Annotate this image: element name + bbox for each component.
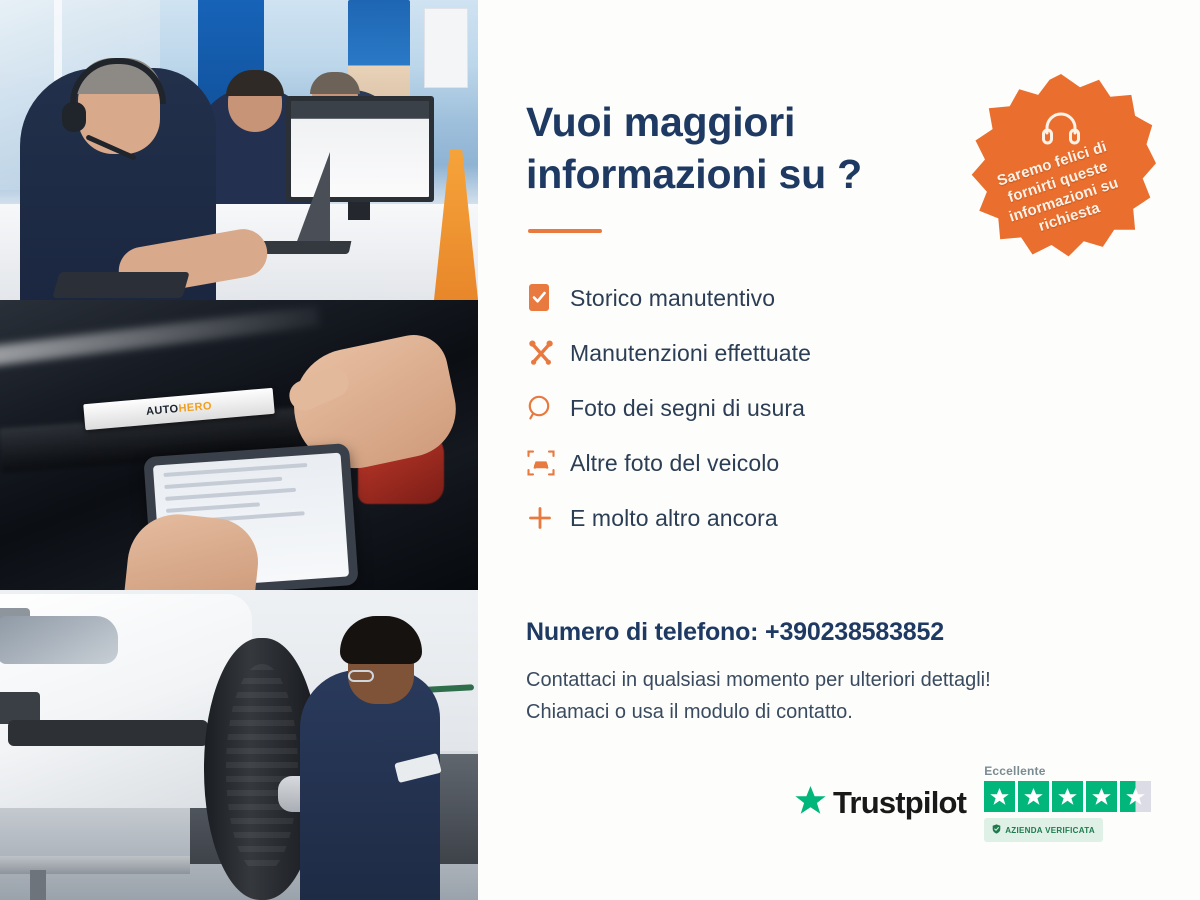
trustpilot-rating-label: Eccellente xyxy=(984,764,1151,778)
phone-number-label: Numero di telefono: +390238583852 xyxy=(526,618,1148,647)
car-lift-platform xyxy=(0,856,190,874)
verified-company-label: AZIENDA VERIFICATA xyxy=(1005,826,1095,835)
contact-line-1: Contattaci in qualsiasi momento per ulte… xyxy=(526,665,1148,697)
monitor-stand xyxy=(348,202,370,220)
call-center-agents-photo xyxy=(0,0,478,300)
feature-item-manutenzioni-effettuate: Manutenzioni effettuate xyxy=(526,326,1148,381)
trustpilot-stars xyxy=(984,781,1151,812)
ruler-brand-auto: AUTO xyxy=(146,403,180,418)
ruler-brand-hero: HERO xyxy=(178,400,212,415)
contact-line-2: Chiamaci o usa il modulo di contatto. xyxy=(526,697,1148,729)
trustpilot-star-icon xyxy=(794,785,827,821)
car-scan-icon xyxy=(526,448,570,478)
photo-column: AUTOHERO xyxy=(0,0,478,900)
search-icon xyxy=(526,394,570,422)
feature-label: Foto dei segni di usura xyxy=(570,395,805,422)
shield-check-icon xyxy=(992,821,1001,839)
plus-icon xyxy=(526,504,570,532)
feature-item-foto-segni-usura: Foto dei segni di usura xyxy=(526,381,1148,436)
page-title: Vuoi maggiori informazioni su ? xyxy=(526,96,946,201)
contact-copy: Contattaci in qualsiasi momento per ulte… xyxy=(526,665,1148,728)
callout-badge: Saremo felici di fornirti queste informa… xyxy=(966,74,1156,264)
tablet-text-line xyxy=(163,463,307,477)
title-underline-rule xyxy=(528,229,602,233)
feature-label: Storico manutentivo xyxy=(570,285,775,312)
laptop-lid xyxy=(296,152,330,244)
mechanic-body xyxy=(300,670,440,900)
content-panel: Vuoi maggiori informazioni su ? Storico … xyxy=(478,0,1200,900)
tools-icon xyxy=(526,338,570,368)
star-filled xyxy=(984,781,1015,812)
car-lift-leg xyxy=(30,870,46,900)
mechanic-wheel-photo xyxy=(0,590,478,900)
car-headlight xyxy=(0,616,118,664)
trustpilot-wordmark: Trustpilot xyxy=(833,785,966,821)
tablet-text-line xyxy=(164,477,282,489)
verified-company-badge: AZIENDA VERIFICATA xyxy=(984,818,1103,842)
document-check-icon xyxy=(526,283,570,313)
feature-label: Manutenzioni effettuate xyxy=(570,340,811,367)
bumper-lower-vent xyxy=(8,720,208,746)
headset-icon xyxy=(1040,109,1082,152)
feature-label: Altre foto del veicolo xyxy=(570,450,779,477)
wall-paper-sheet xyxy=(424,8,468,88)
feature-item-molto-altro: E molto altro ancora xyxy=(526,491,1148,546)
star-filled xyxy=(1018,781,1049,812)
desk-tablet xyxy=(52,272,189,298)
tablet-text-line xyxy=(166,502,260,513)
feature-label: E molto altro ancora xyxy=(570,505,778,532)
trustpilot-rating: Eccellente xyxy=(984,764,1151,842)
safety-glasses xyxy=(348,670,374,682)
tablet-text-line xyxy=(165,488,296,501)
star-filled xyxy=(1052,781,1083,812)
headset-earcup xyxy=(62,102,86,132)
star-filled xyxy=(1086,781,1117,812)
feature-item-storico-manutentivo: Storico manutentivo xyxy=(526,271,1148,326)
vehicle-inspection-photo: AUTOHERO xyxy=(0,300,478,590)
trustpilot-logo: Trustpilot xyxy=(794,785,966,821)
feature-item-altre-foto-veicolo: Altre foto del veicolo xyxy=(526,436,1148,491)
star-half xyxy=(1120,781,1151,812)
ruler-brand-text: AUTOHERO xyxy=(146,400,213,418)
promo-banner: AUTOHERO xyxy=(0,0,1200,900)
feature-list: Storico manutentivo Manutenzi xyxy=(526,271,1148,546)
trustpilot-block: Trustpilot Eccellente xyxy=(794,764,1151,842)
